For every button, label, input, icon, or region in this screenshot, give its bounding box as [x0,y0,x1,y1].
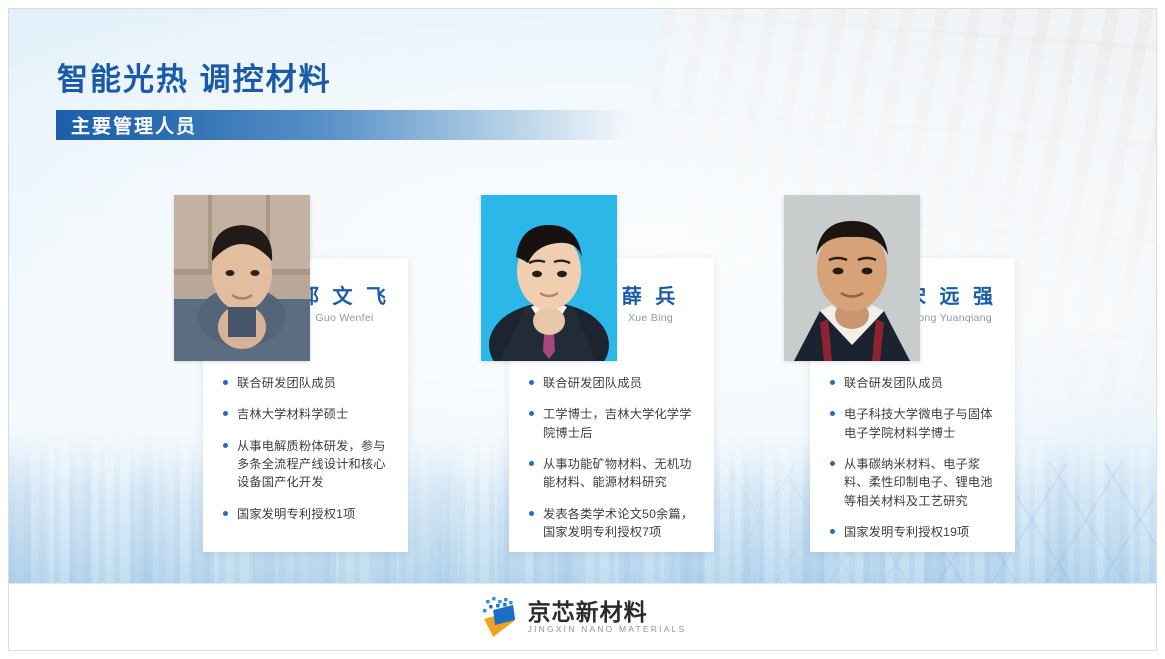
bio-bullet-list: 联合研发团队成员 吉林大学材料学硕士 从事电解质粉体研发，参与多条全流程产线设计… [222,374,394,536]
list-item: 从事电解质粉体研发，参与多条全流程产线设计和核心设备国产化开发 [222,437,394,492]
portrait-song-yuanqiang [784,195,920,361]
footer-bar: 京芯新材料 JINGXIN NANO MATERIALS [9,583,1156,650]
bullet-dot-icon [529,461,534,466]
bullet-dot-icon [830,380,835,385]
bio-bullet-list: 联合研发团队成员 电子科技大学微电子与固体电子学院材料学博士 从事碳纳米材料、电… [829,374,1001,554]
bullet-dot-icon [830,529,835,534]
logo-wordmark: 京芯新材料 JINGXIN NANO MATERIALS [528,601,687,634]
list-item: 发表各类学术论文50余篇，国家发明专利授权7项 [528,505,700,542]
logo-name-cn: 京芯新材料 [528,601,687,624]
bio-bullet-list: 联合研发团队成员 工学博士，吉林大学化学学院博士后 从事功能矿物材料、无机功能材… [528,374,700,554]
section-banner: 主要管理人员 [56,110,631,140]
list-item: 从事碳纳米材料、电子浆料、柔性印制电子、锂电池等相关材料及工艺研究 [829,455,1001,510]
list-item: 联合研发团队成员 [829,374,1001,392]
bullet-dot-icon [223,443,228,448]
bullet-dot-icon [223,511,228,516]
bullet-dot-icon [830,411,835,416]
company-logo: 京芯新材料 JINGXIN NANO MATERIALS [479,596,687,638]
list-item: 国家发明专利授权1项 [222,505,394,523]
bullet-dot-icon [529,380,534,385]
pixel-arrow-logo-icon [479,596,519,638]
list-item: 联合研发团队成员 [528,374,700,392]
portrait-xue-bing [481,195,617,361]
list-item: 工学博士，吉林大学化学学院博士后 [528,405,700,442]
list-item: 从事功能矿物材料、无机功能材料、能源材料研究 [528,455,700,492]
bullet-dot-icon [830,461,835,466]
logo-name-en: JINGXIN NANO MATERIALS [528,625,687,634]
page-title: 智能光热 调控材料 [57,54,332,99]
list-item: 电子科技大学微电子与固体电子学院材料学博士 [829,405,1001,442]
bullet-dot-icon [529,411,534,416]
portrait-guo-wenfei [174,195,310,361]
slide: 智能光热 调控材料 主要管理人员 [8,8,1157,651]
section-banner-label: 主要管理人员 [71,112,197,139]
bullet-dot-icon [223,411,228,416]
list-item: 联合研发团队成员 [222,374,394,392]
list-item: 吉林大学材料学硕士 [222,405,394,423]
list-item: 国家发明专利授权19项 [829,523,1001,541]
bullet-dot-icon [529,511,534,516]
bullet-dot-icon [223,380,228,385]
